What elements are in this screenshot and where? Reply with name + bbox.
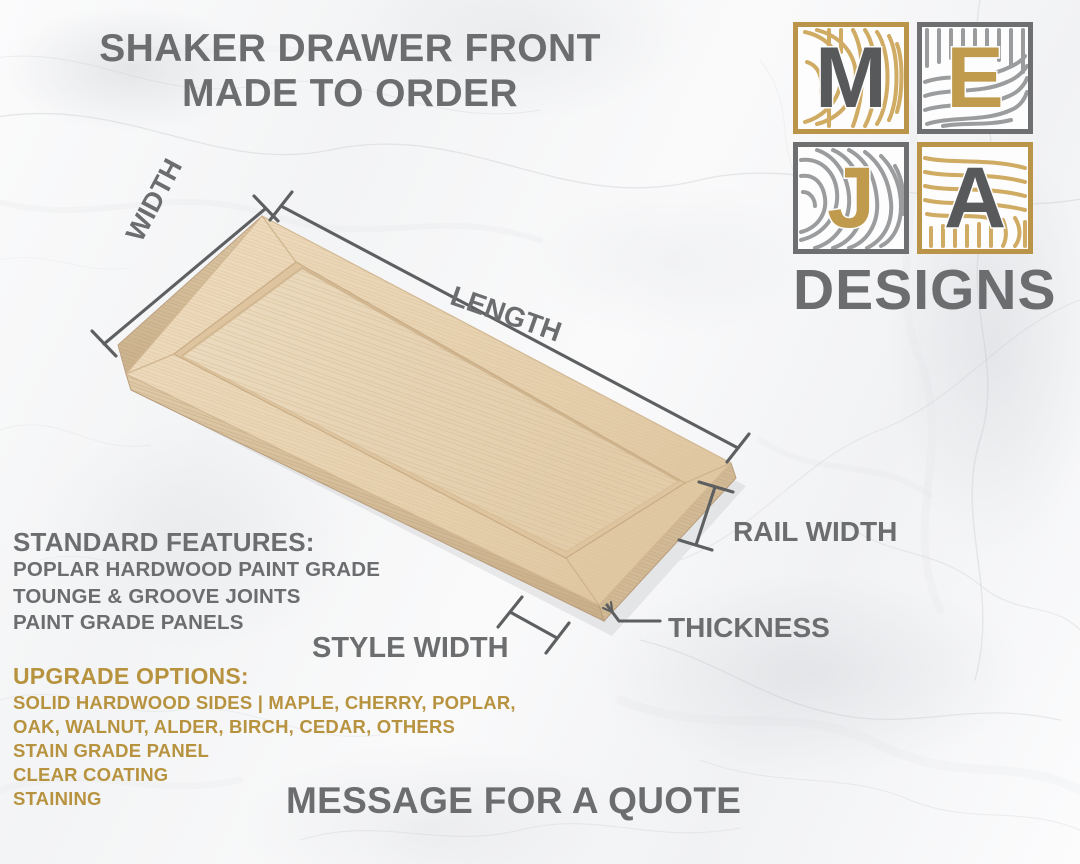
upgrade-options-heading: UPGRADE OPTIONS: — [13, 663, 516, 691]
infographic-canvas: SHAKER DRAWER FRONT MADE TO ORDER — [0, 0, 1080, 864]
standard-features-item: POPLAR HARDWOOD PAINT GRADE — [13, 557, 380, 583]
upgrade-options-item: SOLID HARDWOOD SIDES | MAPLE, CHERRY, PO… — [13, 691, 516, 715]
rail-width-label: RAIL WIDTH — [733, 516, 897, 548]
upgrade-options-item: OAK, WALNUT, ALDER, BIRCH, CEDAR, OTHERS — [13, 715, 516, 739]
standard-features-item: PAINT GRADE PANELS — [13, 610, 380, 636]
standard-features-heading: STANDARD FEATURES: — [13, 528, 380, 557]
style-width-label: STYLE WIDTH — [312, 632, 509, 665]
upgrade-options-item: STAIN GRADE PANEL — [13, 739, 516, 763]
call-to-action-text: MESSAGE FOR A QUOTE — [286, 780, 741, 822]
thickness-label: THICKNESS — [668, 612, 830, 644]
standard-features-block: STANDARD FEATURES: POPLAR HARDWOOD PAINT… — [13, 528, 380, 636]
standard-features-item: TOUNGE & GROOVE JOINTS — [13, 584, 380, 610]
